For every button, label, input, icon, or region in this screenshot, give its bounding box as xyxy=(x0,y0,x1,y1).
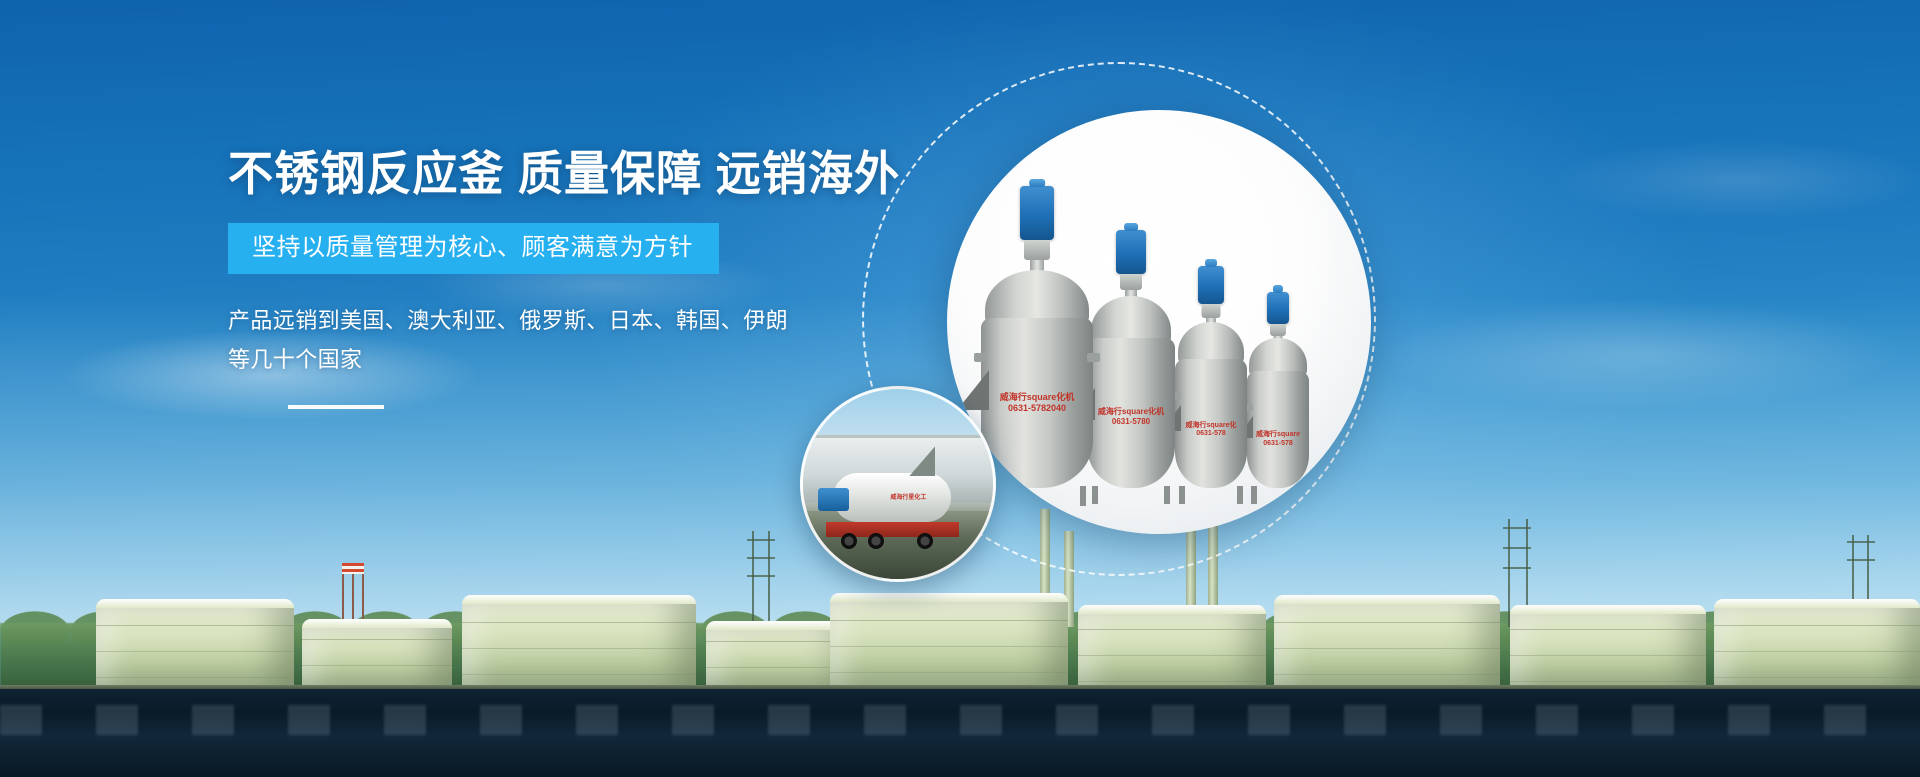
reactor-vessel-3: 威海行square化 0631-578 xyxy=(1175,322,1247,488)
gearbox xyxy=(1120,274,1142,290)
storage-tank xyxy=(1078,605,1266,691)
reactor-vessel-4: 威海行square 0631-578 xyxy=(1247,338,1309,488)
vessel-legs xyxy=(988,488,1087,506)
storage-tank xyxy=(830,593,1068,691)
transport-truck-photo: 威海行星化工 xyxy=(800,386,996,582)
vessel-label-line1: 威海行square化机 xyxy=(1098,407,1164,417)
reactor-vessel-2: 威海行square化机 0631-5780 xyxy=(1087,296,1175,488)
truck-vessel-label: 威海行星化工 xyxy=(890,495,926,502)
storage-tank xyxy=(1274,595,1500,691)
vessel-label: 威海行square 0631-578 xyxy=(1256,431,1300,449)
vessel-label-line1: 威海行square xyxy=(1256,431,1300,440)
vessel-legs xyxy=(1092,486,1169,504)
truck-wheel xyxy=(868,533,884,549)
vessel-label-line2: 0631-578 xyxy=(1256,440,1300,449)
storage-tank xyxy=(1714,599,1920,691)
description-line-1: 产品远销到美国、澳大利亚、俄罗斯、日本、韩国、伊朗 xyxy=(228,302,1048,341)
vessel-legs xyxy=(1251,486,1306,504)
agitator-motor-icon xyxy=(818,488,848,511)
storage-tank xyxy=(302,619,452,691)
subtitle-highlight-bar: 坚持以质量管理为核心、顾客满意为方针 xyxy=(228,223,719,274)
vessel-label-line2: 0631-5780 xyxy=(1098,417,1164,427)
agitator-motor-icon xyxy=(1198,266,1224,304)
agitator-motor-icon xyxy=(1116,230,1146,274)
horizontal-rule-divider xyxy=(288,405,384,409)
storage-tank xyxy=(462,595,696,691)
vessel-label: 威海行square化 0631-578 xyxy=(1186,422,1237,440)
hero-banner: 威海行square 0631-578 威海行square化 0631-578 xyxy=(0,0,1920,777)
industrial-skyline xyxy=(0,545,1920,777)
vessel-label-line2: 0631-578 xyxy=(1186,430,1237,439)
description-paragraph: 产品远销到美国、澳大利亚、俄罗斯、日本、韩国、伊朗 等几十个国家 xyxy=(228,302,1048,379)
description-line-2: 等几十个国家 xyxy=(228,341,1048,380)
page-title: 不锈钢反应釜 质量保障 远销海外 xyxy=(228,150,1015,197)
hero-copy: 不锈钢反应釜 质量保障 远销海外 坚持以质量管理为核心、顾客满意为方针 产品远销… xyxy=(228,150,1048,409)
vessel-label-line1: 威海行square化 xyxy=(1186,422,1237,431)
storage-tank xyxy=(1510,605,1706,691)
vessel-body xyxy=(1247,371,1309,488)
vessel-label: 威海行square化机 0631-5780 xyxy=(1098,407,1164,427)
gearbox xyxy=(1202,304,1221,318)
vessel-nozzle xyxy=(1087,353,1100,362)
gearbox xyxy=(1270,324,1286,336)
water-reflection xyxy=(0,705,1920,735)
agitator-motor-icon xyxy=(1267,292,1289,324)
storage-tank xyxy=(96,599,294,691)
vessel-legs xyxy=(1179,486,1242,504)
